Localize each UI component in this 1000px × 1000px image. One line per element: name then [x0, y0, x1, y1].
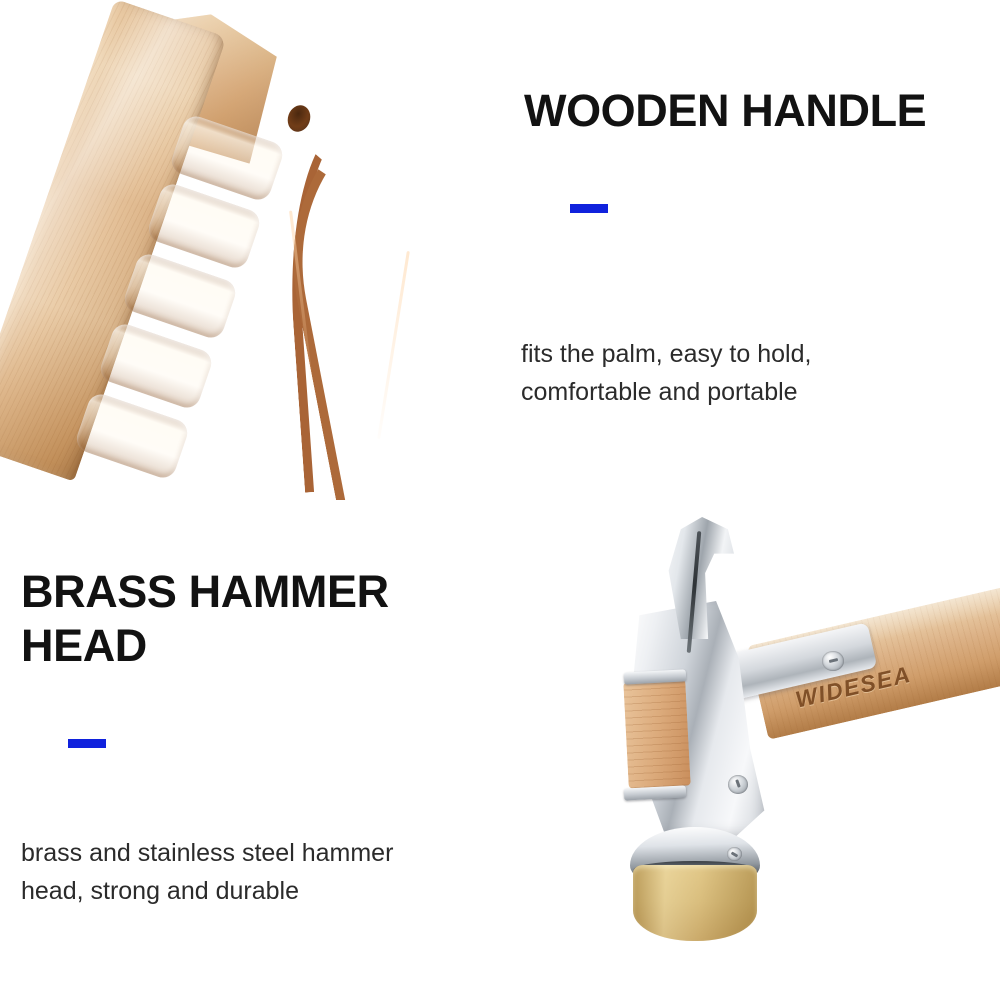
wooden-handle-divider: [570, 204, 608, 213]
brass-hammer-head-photo: WIDESEA: [600, 505, 1000, 1000]
brass-striking-face: [633, 865, 757, 941]
brass-hammer-head-description: brass and stainless steel hammer head, s…: [21, 834, 393, 910]
wooden-handle-title: WOODEN HANDLE: [524, 84, 926, 138]
lanyard-hole: [284, 102, 314, 135]
wooden-handle-description: fits the palm, easy to hold, comfortable…: [521, 335, 811, 411]
copper-insert: [623, 679, 690, 788]
hammer-head-illustration: WIDESEA: [600, 505, 1000, 1000]
wooden-handle-photo: [0, 0, 500, 500]
brass-hammer-head-title: BRASS HAMMER HEAD: [21, 565, 389, 673]
finger-groove: [73, 391, 191, 482]
brass-hammer-head-divider: [68, 739, 106, 748]
wooden-handle-illustration: [0, 0, 500, 500]
product-feature-page: WOODEN HANDLE fits the palm, easy to hol…: [0, 0, 1000, 1000]
